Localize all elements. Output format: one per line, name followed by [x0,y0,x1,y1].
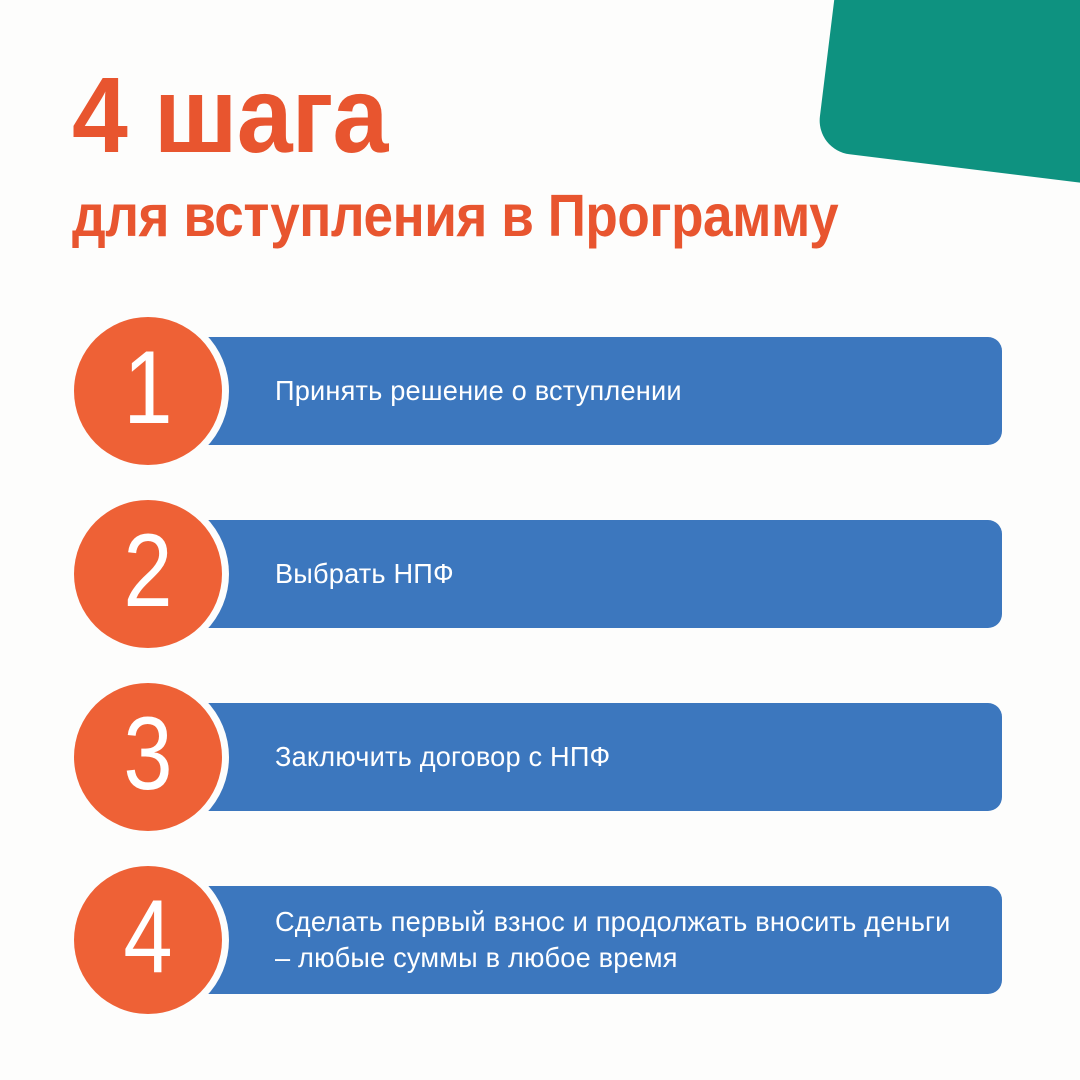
step-bar: Принять решение о вступлении [140,337,1002,445]
step-number: 4 [123,885,172,989]
step-number: 3 [123,702,172,806]
headline-block: 4 шага для вступления в Программу [72,60,1002,248]
step-item: Принять решение о вступлении 1 [0,317,1080,465]
step-number-badge: 3 [74,683,222,831]
step-label: Выбрать НПФ [275,556,454,592]
step-label: Заключить договор с НПФ [275,739,610,775]
infographic-poster: 4 шага для вступления в Программу Принят… [0,0,1080,1080]
step-item: Выбрать НПФ 2 [0,500,1080,648]
steps-list: Принять решение о вступлении 1 Выбрать Н… [0,317,1080,1049]
step-number-badge: 1 [74,317,222,465]
step-label: Принять решение о вступлении [275,373,682,409]
step-item: Заключить договор с НПФ 3 [0,683,1080,831]
step-bar: Заключить договор с НПФ [140,703,1002,811]
step-number: 2 [123,519,172,623]
step-label: Сделать первый взнос и продолжать вносит… [275,904,951,976]
page-subtitle: для вступления в Программу [72,186,909,248]
step-bar: Выбрать НПФ [140,520,1002,628]
step-number-badge: 2 [74,500,222,648]
step-number-badge: 4 [74,866,222,1014]
step-bar: Сделать первый взнос и продолжать вносит… [140,886,1002,994]
page-title: 4 шага [72,60,937,170]
step-item: Сделать первый взнос и продолжать вносит… [0,866,1080,1014]
step-number: 1 [123,336,172,440]
